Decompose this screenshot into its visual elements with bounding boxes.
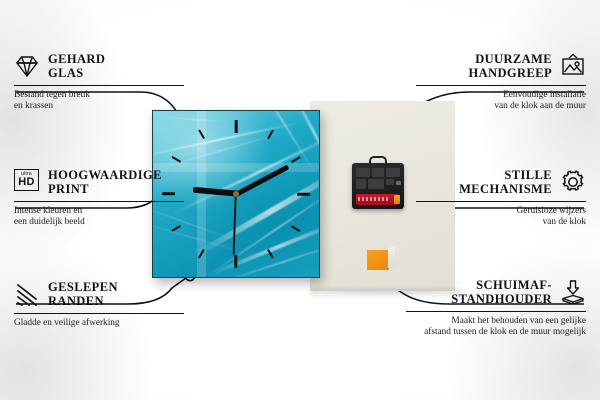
feature-title-line1: HOOGWAARDIGE bbox=[48, 168, 162, 182]
clock-center-hub bbox=[233, 191, 239, 197]
feature-schuimafstandhouder: SCHUIMAF- STANDHOUDER Maakt het behouden… bbox=[406, 278, 586, 339]
feature-title-line1: STILLE bbox=[459, 168, 552, 182]
feature-divider bbox=[14, 313, 184, 314]
feature-title-line2: MECHANISME bbox=[459, 182, 552, 196]
feature-title: GESLEPEN RANDEN bbox=[48, 280, 118, 308]
feature-description: Geruisloze wijzers van de klok bbox=[416, 206, 586, 229]
mechanism-housing-detail bbox=[356, 168, 400, 190]
clock-mechanism bbox=[352, 163, 404, 209]
diamond-icon bbox=[14, 53, 40, 79]
feature-title-line1: GEHARD bbox=[48, 52, 105, 66]
foam-spacer bbox=[367, 250, 389, 270]
feature-title-line2: STANDHOUDER bbox=[451, 292, 552, 306]
feature-gehard-glas: GEHARD GLAS Bestand tegen breuk en krass… bbox=[14, 52, 184, 113]
feature-hoogwaardige-print: ultra HD HOOGWAARDIGE PRINT Intense kleu… bbox=[14, 168, 184, 229]
feature-title: DUURZAME HANDGREEP bbox=[469, 52, 552, 80]
feature-geslepen-randen: GESLEPEN RANDEN Gladde en veilige afwerk… bbox=[14, 280, 184, 329]
feature-title-line2: RANDEN bbox=[48, 294, 118, 308]
ultra-hd-icon: ultra HD bbox=[14, 169, 40, 195]
feature-title-line1: DUURZAME bbox=[469, 52, 552, 66]
feature-divider bbox=[14, 85, 184, 86]
picture-frame-icon bbox=[560, 53, 586, 79]
battery bbox=[356, 194, 398, 205]
feature-title-line1: SCHUIMAF- bbox=[451, 278, 552, 292]
feature-divider bbox=[406, 311, 586, 312]
feature-description: Gladde en veilige afwerking bbox=[14, 318, 184, 329]
feature-title: HOOGWAARDIGE PRINT bbox=[48, 168, 162, 196]
feature-stille-mechanisme: STILLE MECHANISME Geruisloze wijzers van… bbox=[416, 168, 586, 229]
feature-title: STILLE MECHANISME bbox=[459, 168, 552, 196]
press-down-pad-icon bbox=[560, 279, 586, 305]
product-infographic: GEHARD GLAS Bestand tegen breuk en krass… bbox=[0, 0, 600, 400]
feature-divider bbox=[416, 201, 586, 202]
gear-icon bbox=[560, 169, 586, 195]
feature-title: GEHARD GLAS bbox=[48, 52, 105, 80]
feature-title-line2: PRINT bbox=[48, 182, 162, 196]
feature-title: SCHUIMAF- STANDHOUDER bbox=[451, 278, 552, 306]
feature-description: Bestand tegen breuk en krassen bbox=[14, 90, 184, 113]
feature-description: Eenvoudige installatie van de klok aan d… bbox=[416, 90, 586, 113]
feature-divider bbox=[416, 85, 586, 86]
feature-title-line1: GESLEPEN bbox=[48, 280, 118, 294]
feature-description: Maakt het behouden van een gelijke afsta… bbox=[406, 316, 586, 339]
feature-title-line2: GLAS bbox=[48, 66, 105, 80]
feature-duurzame-handgreep: DUURZAME HANDGREEP Eenvoudige installati… bbox=[416, 52, 586, 113]
feature-title-line2: HANDGREEP bbox=[469, 66, 552, 80]
battery-label bbox=[358, 197, 390, 201]
mechanism-hanger-icon bbox=[369, 156, 387, 167]
battery-terminal bbox=[394, 195, 400, 204]
feature-description: Intense kleuren en een duidelijk beeld bbox=[14, 206, 184, 229]
feature-divider bbox=[14, 201, 184, 202]
diagonal-lines-icon bbox=[14, 281, 40, 307]
ultra-hd-icon-main-text: HD bbox=[18, 177, 35, 188]
